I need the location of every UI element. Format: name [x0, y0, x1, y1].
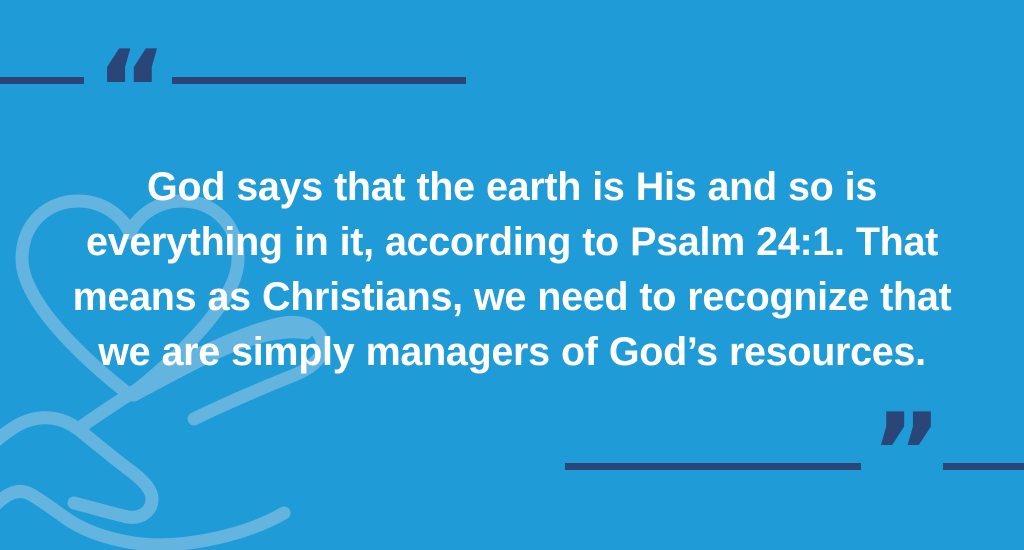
- quote-line: means as Christians, we need to recogniz…: [54, 270, 970, 325]
- quote-line: we are simply managers of God’s resource…: [54, 325, 970, 380]
- quote-card: “ God says that the earth is His and so …: [0, 0, 1024, 550]
- bottom-left-accent-rule: [565, 463, 861, 470]
- top-right-accent-rule: [172, 77, 466, 84]
- top-left-accent-rule: [0, 77, 84, 84]
- quote-line: God says that the earth is His and so is: [54, 160, 970, 215]
- quote-line: everything in it, according to Psalm 24:…: [54, 215, 970, 270]
- close-quote-icon: ”: [871, 400, 940, 508]
- open-quote-icon: “: [96, 37, 165, 145]
- quote-text: God says that the earth is His and so is…: [0, 160, 1024, 380]
- bottom-right-accent-rule: [943, 463, 1024, 470]
